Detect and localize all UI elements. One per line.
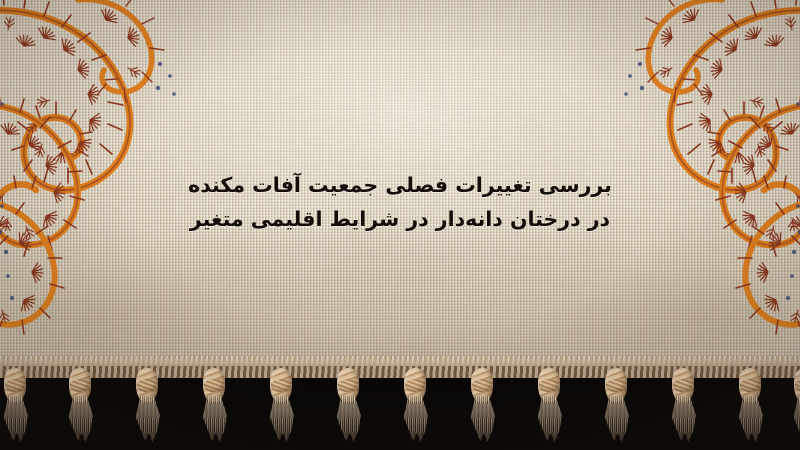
tassel (57, 366, 103, 448)
page-title: بررسی تغییرات فصلی جمعیت آفات مکنده در د… (0, 168, 800, 236)
tassel-skirt (267, 396, 295, 442)
tassel-skirt (401, 396, 429, 442)
tassel (526, 366, 572, 448)
tassel (459, 366, 505, 448)
tassel-skirt (200, 396, 228, 442)
tassel-skirt (1, 396, 29, 442)
tassel (593, 366, 639, 448)
tassel (191, 366, 237, 448)
tassel-skirt (791, 396, 800, 442)
tassel-fringe (0, 366, 800, 450)
title-card-canvas: بررسی تغییرات فصلی جمعیت آفات مکنده در د… (0, 0, 800, 450)
tassel-skirt (66, 396, 94, 442)
tassel (325, 366, 371, 448)
tassel (392, 366, 438, 448)
tassel (660, 366, 706, 448)
tassel-skirt (535, 396, 563, 442)
tassel-skirt (669, 396, 697, 442)
tassel-skirt (468, 396, 496, 442)
tassel-skirt (334, 396, 362, 442)
tassel-skirt (736, 396, 764, 442)
title-line-1: بررسی تغییرات فصلی جمعیت آفات مکنده (0, 168, 800, 202)
tassel (258, 366, 304, 448)
tassel (124, 366, 170, 448)
tassel-skirt (602, 396, 630, 442)
tassel (0, 366, 38, 448)
title-line-2: در درختان دانه‌دار در شرایط اقلیمی متغیر (0, 202, 800, 236)
tassel (782, 366, 800, 448)
tassel (727, 366, 773, 448)
tassel-skirt (133, 396, 161, 442)
